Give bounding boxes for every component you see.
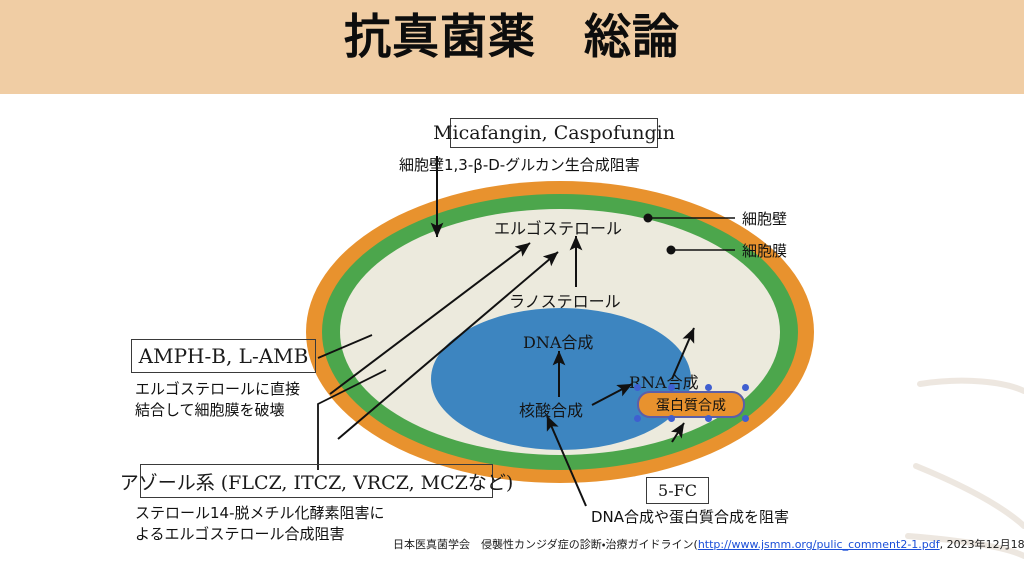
label-nucleic-acid-synthesis: 核酸合成 xyxy=(519,397,583,421)
mechanism-echinocandin: 細胞壁1,3-β-D-グルカン生合成阻害 xyxy=(399,155,640,176)
drug-box-amphotericin[interactable]: AMPH-B, L-AMB xyxy=(131,339,316,373)
citation-suffix: , 2023年12月18日閲覧．) xyxy=(940,538,1024,551)
label-ergosterol: エルゴステロール xyxy=(494,215,622,239)
citation-url-link[interactable]: http://www.jsmm.org/pulic_comment2-1.pdf xyxy=(698,538,940,551)
drug-box-5fc[interactable]: 5-FC xyxy=(646,477,709,504)
citation-prefix: 日本医真菌学会 侵襲性カンジダ症の診断・治療ガイドライン( xyxy=(393,538,698,551)
protein-synthesis-shape[interactable]: 蛋白質合成 xyxy=(637,391,745,418)
resize-handle-bottom-center-2[interactable] xyxy=(705,415,712,422)
slide-root: 抗真菌薬 総論 xyxy=(0,0,1024,576)
drug-box-azole[interactable]: アゾール系 (FLCZ, ITCZ, VRCZ, MCZなど) xyxy=(140,464,493,498)
footer-citation: 日本医真菌学会 侵襲性カンジダ症の診断・治療ガイドライン(http://www.… xyxy=(393,536,1024,552)
resize-handle-bottom-left[interactable] xyxy=(634,415,641,422)
mechanism-amphotericin: エルゴステロールに直接 結合して細胞膜を破壊 xyxy=(135,379,300,422)
mechanism-5fc: DNA合成や蛋白質合成を阻害 xyxy=(591,507,789,528)
resize-handle-bottom-center-1[interactable] xyxy=(668,415,675,422)
resize-handle-bottom-right[interactable] xyxy=(742,415,749,422)
decorative-swoosh xyxy=(908,381,1024,556)
label-cell-membrane: 細胞膜 xyxy=(742,240,787,261)
resize-handle-top-center-2[interactable] xyxy=(705,384,712,391)
label-lanosterol: ラノステロール xyxy=(509,288,621,312)
resize-handle-top-left[interactable] xyxy=(634,384,641,391)
label-cell-wall: 細胞壁 xyxy=(742,208,787,229)
resize-handle-top-center-1[interactable] xyxy=(668,384,675,391)
mechanism-azole: ステロール14-脱メチル化酵素阻害に よるエルゴステロール合成阻害 xyxy=(135,503,385,546)
drug-box-echinocandin[interactable]: Micafangin, Caspofungin xyxy=(450,118,658,148)
label-dna-synthesis: DNA合成 xyxy=(523,329,593,353)
diagram-area: Micafangin, Caspofungin 細胞壁1,3-β-D-グルカン生… xyxy=(0,94,1024,576)
resize-handle-top-right[interactable] xyxy=(742,384,749,391)
page-title: 抗真菌薬 総論 xyxy=(0,9,1024,68)
